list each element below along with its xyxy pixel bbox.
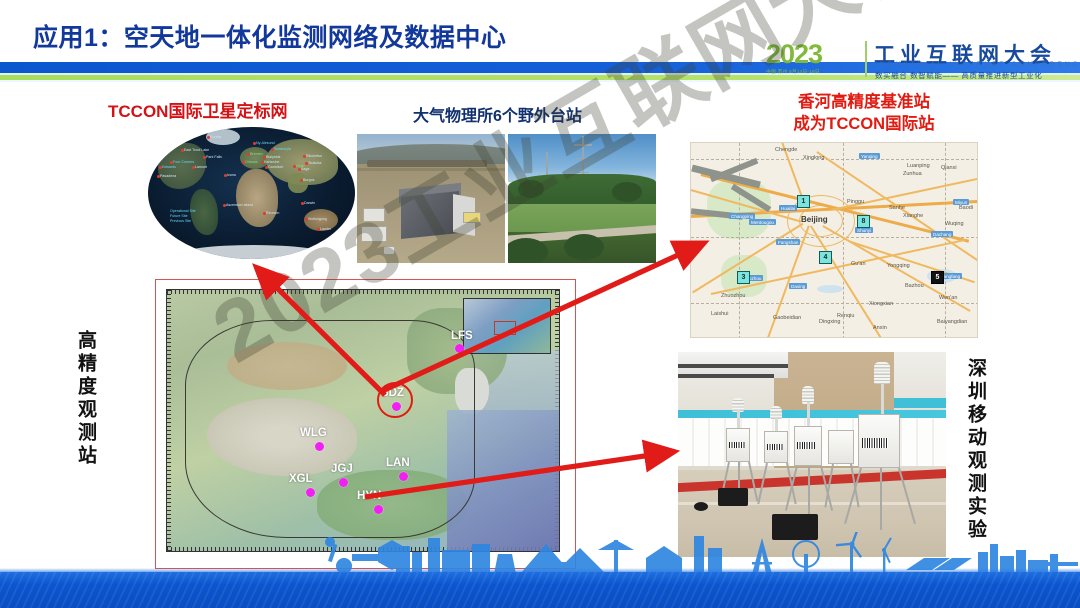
instrument-mast: [737, 410, 740, 430]
photo-far-structure: [367, 160, 487, 167]
logo-year: 2023: [766, 40, 862, 68]
globe-site-dot: [223, 204, 226, 207]
globe-india: [288, 173, 308, 193]
instrument-mast: [881, 384, 884, 416]
globe-site-label: Edwards: [162, 165, 176, 169]
globe-site-dot: [298, 168, 301, 171]
map-place-name: Dingxing: [819, 319, 840, 325]
globe-site-label: Reunion: [266, 211, 279, 215]
china-station-map-panel[interactable]: LFSSDZWLGJGJXGLLANHYN 70°E80°E85°E90°E95…: [155, 279, 576, 569]
map-place-name: Wen'an: [939, 295, 957, 301]
beijing-road-map[interactable]: Beijing ChengdeXinglongLuanpingZunhuaQia…: [690, 142, 978, 338]
tripod-leg: [880, 468, 882, 530]
china-map: LFSSDZWLGJGJXGLLANHYN 70°E80°E85°E90°E95…: [166, 289, 560, 552]
globe-site-dot: [265, 166, 268, 169]
photo-bush-4: [508, 238, 548, 263]
heading-tccon: TCCON国际卫星定标网: [108, 97, 287, 122]
globe-site-label: Lamont: [195, 165, 207, 169]
globe-site-dot: [159, 166, 162, 169]
globe-site-dot: [207, 136, 210, 139]
heading-xianghe-line1: 香河高精度基准站: [748, 91, 980, 113]
map-inset-overview: [463, 298, 551, 354]
globe-site-label: Darwin: [304, 201, 315, 205]
station-label: LAN: [386, 457, 410, 469]
logo-date: 中国·苏州 8月14日-18日: [766, 68, 857, 75]
station-dot: [315, 442, 324, 451]
photo-ceiling-beam-1: [678, 364, 788, 368]
globe-site-label: Izana: [227, 173, 236, 177]
instrument-barcode: [797, 442, 815, 449]
globe-site-dot: [263, 156, 266, 159]
photo-outbuilding-3: [463, 212, 481, 223]
globe-site-label: Ascension Island: [226, 203, 253, 207]
instrument-enclosure: [828, 430, 854, 464]
map-marker-3[interactable]: 3: [737, 271, 750, 284]
skyline-pipe: [352, 554, 392, 561]
photo-building-body: [401, 191, 459, 239]
globe-site-dot: [242, 161, 245, 164]
photo-cyan-band-right: [894, 398, 946, 408]
instrument-mast: [807, 402, 810, 428]
globe-site-dot: [293, 165, 296, 168]
station-dot: [374, 505, 383, 514]
station-dot: [455, 344, 464, 353]
photo-outbuilding-2: [361, 226, 387, 242]
globe-site-dot: [305, 162, 308, 165]
map-place-tag[interactable]: Dachang: [931, 231, 953, 237]
map-tick-top: [167, 290, 560, 294]
globe-site-dot: [263, 212, 266, 215]
map-gridline-v3: [945, 143, 946, 338]
photo-vehicle: [383, 246, 395, 255]
photo-road: [357, 168, 505, 171]
heading-xianghe: 香河高精度基准站 成为TCCON国际站: [748, 91, 980, 135]
map-place-name: Zunhua: [903, 171, 922, 177]
field-station-photo-tower: [508, 134, 656, 263]
globe-site-dot: [303, 155, 306, 158]
tccon-globe-image: Ny-AlesundSodankylaEurekaBialystokBremen…: [148, 127, 355, 259]
map-place-name: Xinglong: [803, 155, 824, 161]
globe-africa: [236, 169, 278, 227]
map-label-beijing: Beijing: [801, 215, 828, 224]
globe-site-label: Pasadena: [160, 174, 176, 178]
map-gridline-h3: [691, 303, 978, 304]
instrument-barcode: [729, 442, 745, 448]
globe-site-dot: [224, 174, 227, 177]
globe-site-label: Four Corners: [173, 160, 194, 164]
page-title: 应用1：空天地一体化监测网络及数据中心: [33, 18, 506, 54]
globe-site-label: Operational Site: [170, 209, 196, 213]
map-country-border: [185, 320, 475, 538]
station-label: SDZ: [381, 387, 404, 399]
globe-site-label: Sodankyla: [274, 147, 291, 151]
globe-site-label: Future Site: [170, 214, 188, 218]
photo-ceiling-beam-2: [678, 374, 774, 378]
globe-site-dot: [301, 202, 304, 205]
globe-site-dot: [170, 161, 173, 164]
logo-name-en: INDUSTRIAL INTERNET CONFERENCE: [875, 61, 1080, 68]
eiffel-tower-base: [752, 562, 772, 565]
station-dot: [306, 488, 315, 497]
station-dot: [392, 402, 401, 411]
globe-site-dot: [253, 142, 256, 145]
conference-logo: 2023 中国·苏州 8月14日-18日 工业互联网大会 INDUSTRIAL …: [766, 40, 1074, 82]
station-label: XGL: [289, 473, 313, 485]
skyline-bridge: [1044, 562, 1078, 566]
label-shenzhen-mobile-experiment: 深圳移动观测实验: [962, 358, 989, 542]
map-marker-1[interactable]: 1: [797, 195, 810, 208]
map-place-name: Luanping: [907, 163, 930, 169]
map-place-name: Xianghe: [903, 213, 923, 219]
slide-root: 应用1：空天地一体化监测网络及数据中心 2023 中国·苏州 8月14日-18日…: [0, 0, 1080, 608]
label-high-precision-stations: 高精度观测站: [72, 330, 99, 468]
globe-site-label: Karlsruhe: [264, 160, 279, 164]
map-place-name: Laishui: [711, 311, 728, 317]
map-gridline-v1: [739, 143, 740, 338]
photo-bush-1: [518, 180, 544, 198]
tripod-leg: [808, 466, 810, 516]
radiation-shield-icon: [874, 362, 890, 384]
map-place-name: Yongqing: [887, 263, 910, 269]
instrument-barcode: [767, 444, 783, 450]
map-place-tag[interactable]: Huailai: [779, 205, 797, 211]
map-place-tag[interactable]: Yanqing: [859, 153, 880, 159]
globe-site-label: Garmisch: [268, 165, 283, 169]
globe-site-dot: [317, 228, 320, 231]
logo-divider: [865, 41, 867, 77]
map-marker-8[interactable]: 8: [857, 215, 870, 228]
map-place-name: Qianxi: [941, 165, 957, 171]
globe-site-label: Tsukuba: [308, 161, 321, 165]
globe-site-label: East Trout Lake: [184, 148, 209, 152]
map-gridline-h1: [691, 159, 978, 160]
globe-antarctica: [178, 245, 328, 259]
globe-site-label: Bialystok: [266, 155, 280, 159]
photo-bush-2: [612, 182, 642, 202]
map-place-name: Chengde: [775, 147, 797, 153]
globe-site-dot: [305, 218, 308, 221]
map-place-name: Baiyangdian: [937, 319, 967, 325]
map-place-name: Wuqing: [945, 221, 964, 227]
station-label: JGJ: [331, 463, 353, 475]
map-place-name: Gaobeidian: [773, 315, 801, 321]
station-label: HYN: [357, 490, 381, 502]
map-marker-5[interactable]: 5: [931, 271, 944, 284]
globe-site-label: Park Falls: [206, 155, 222, 159]
globe-site-label: Eureka: [210, 135, 221, 139]
globe-site-dot: [157, 175, 160, 178]
map-place-name: Bazhou: [905, 283, 924, 289]
globe-site-label: Hefei: [296, 164, 304, 168]
globe-site-dot: [247, 153, 250, 156]
globe-site-label: Lauder: [320, 227, 331, 231]
globe-site-label: Ny-Alesund: [256, 141, 275, 145]
shenzhen-instruments-photo: [678, 352, 946, 557]
globe-site-dot: [271, 148, 274, 151]
logo-slogan: 数实融合 数智赋能—— 高质量推进新型工业化: [875, 70, 1042, 81]
globe-site-label: Wollongong: [308, 217, 327, 221]
map-place-tag[interactable]: Miyun: [953, 199, 969, 205]
pump-unit-1: [718, 488, 748, 506]
photo-outbuilding-1: [363, 208, 385, 222]
heading-xianghe-line2: 成为TCCON国际站: [748, 113, 980, 135]
globe-site-label: Rikubetsu: [306, 154, 322, 158]
globe-site-dot: [261, 161, 264, 164]
map-water-body-2: [817, 285, 843, 293]
globe-site-label: Previous Site: [170, 219, 191, 223]
globe-site-dot: [300, 179, 303, 182]
cable-coil: [694, 502, 708, 511]
skyline-pagoda-roof: [598, 540, 634, 550]
map-place-name: Pinggu: [847, 199, 864, 205]
map-inset-extent-box: [494, 321, 516, 335]
map-place-tag[interactable]: Daxing: [789, 283, 807, 289]
map-place-name: Gu'an: [851, 261, 866, 267]
photo-bush-3: [564, 234, 604, 260]
bottom-blue-band: [0, 572, 1080, 608]
map-marker-4[interactable]: 4: [819, 251, 832, 264]
globe-site-label: Bremen: [250, 152, 263, 156]
map-place-tag[interactable]: Fangshan: [776, 239, 800, 245]
photo-tower-arm-2: [576, 158, 590, 159]
field-station-photo-building: [357, 134, 505, 263]
map-place-name: Xiongxian: [869, 301, 893, 307]
map-place-name: Zhuozhou: [721, 293, 745, 299]
map-tick-left: [167, 290, 171, 552]
photo-tower-arm-1: [574, 144, 592, 146]
station-label: LFS: [451, 330, 473, 342]
globe-site-dot: [181, 149, 184, 152]
globe-site-label: Orleans: [245, 160, 258, 164]
globe-site-dot: [203, 156, 206, 159]
station-label: WLG: [300, 427, 327, 439]
map-place-name: Baodi: [959, 205, 973, 211]
map-place-name: Anxin: [873, 325, 887, 331]
map-place-name: Sanhe: [889, 205, 905, 211]
station-dot: [399, 472, 408, 481]
globe-site-label: Burgos: [303, 178, 314, 182]
instrument-barcode: [862, 438, 888, 448]
station-dot: [339, 478, 348, 487]
heading-iap-stations: 大气物理所6个野外台站: [413, 102, 582, 126]
globe-site-dot: [192, 166, 195, 169]
map-place-tag[interactable]: Mentougou: [749, 219, 776, 225]
